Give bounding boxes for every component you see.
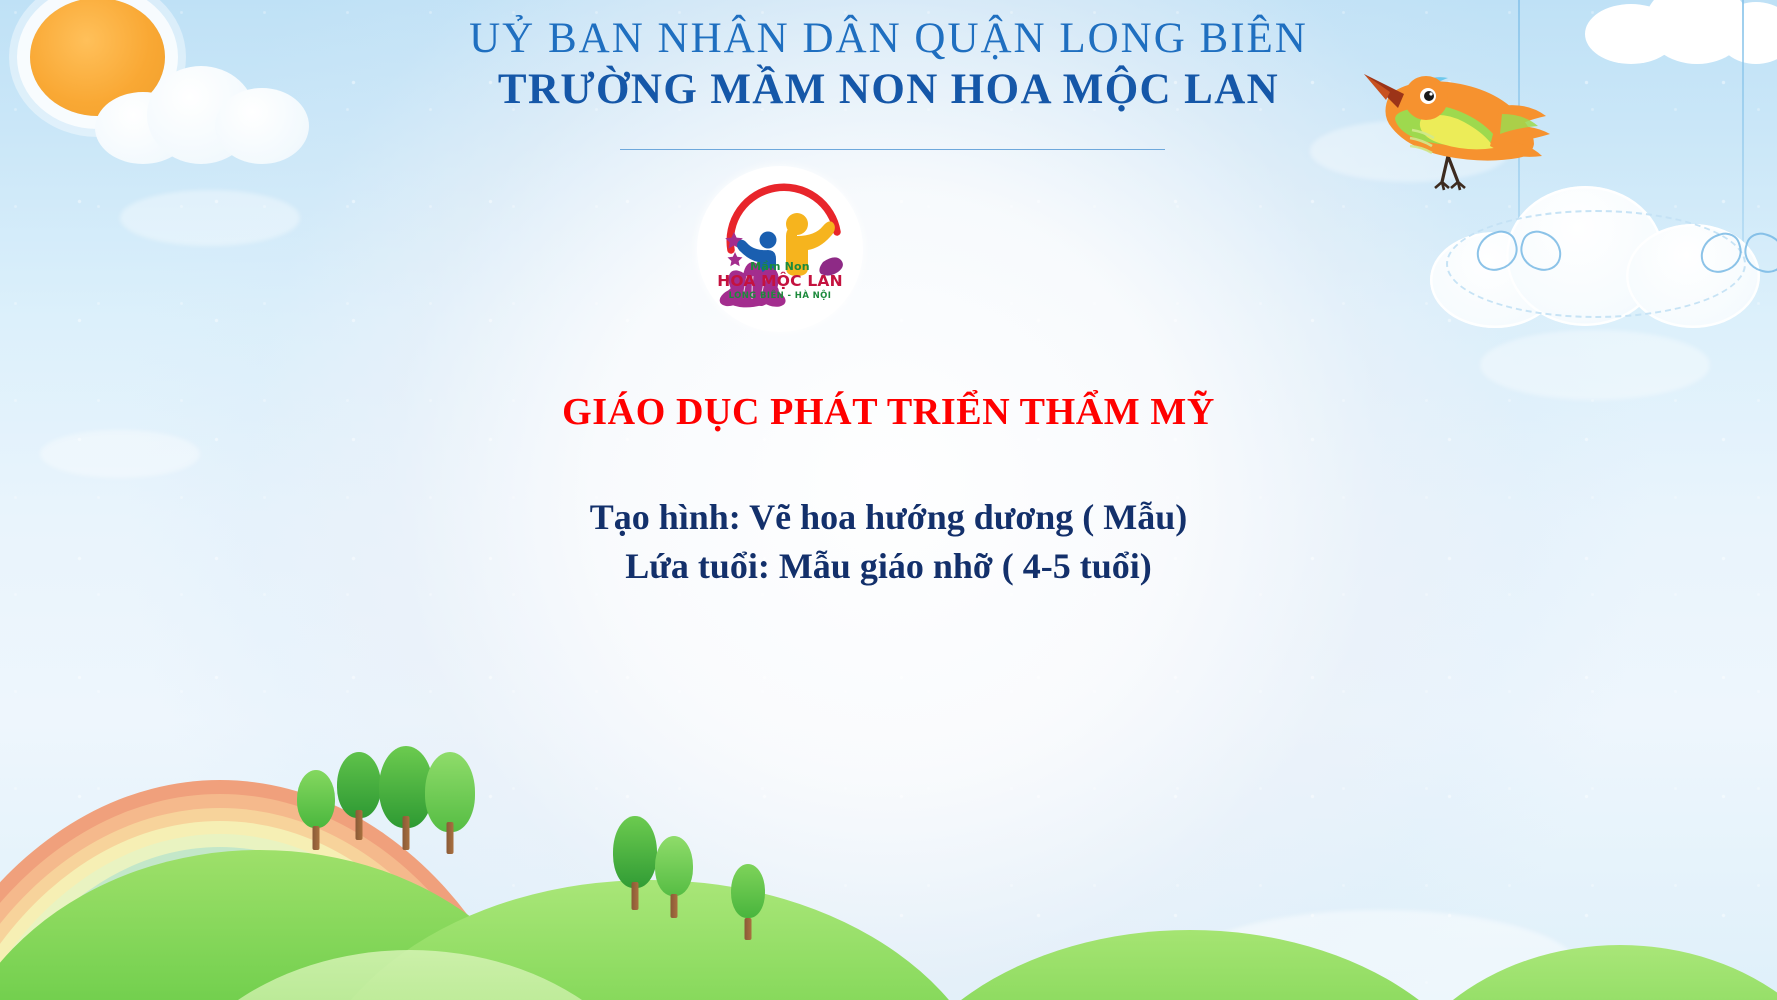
header-line-1: UỶ BAN NHÂN DÂN QUẬN LONG BIÊN	[0, 14, 1777, 64]
header-divider	[620, 149, 1165, 150]
logo-text-bottom: LONG BIÊN - HÀ NỘI	[697, 291, 863, 301]
ribbon-bow-icon	[1476, 230, 1562, 270]
lesson-line-2: Lứa tuổi: Mẫu giáo nhỡ ( 4-5 tuổi)	[0, 542, 1777, 591]
subject-title: GIÁO DỤC PHÁT TRIỂN THẨM MỸ	[0, 388, 1777, 437]
tree-icon	[730, 870, 766, 940]
tree-icon	[336, 754, 382, 840]
school-logo: Mầm Non HOA MỘC LAN LONG BIÊN - HÀ NỘI	[697, 166, 863, 332]
tree-icon	[296, 774, 336, 850]
lesson-line-1: Tạo hình: Vẽ hoa hướng dương ( Mẫu)	[0, 493, 1777, 542]
ghost-cloud	[120, 190, 300, 246]
tree-icon	[654, 840, 694, 918]
logo-text-main: HOA MỘC LAN	[697, 272, 863, 290]
tree-icon	[424, 754, 476, 854]
slide-body: GIÁO DỤC PHÁT TRIỂN THẨM MỸ Tạo hình: Vẽ…	[0, 388, 1777, 591]
header-line-2: TRƯỜNG MẦM NON HOA MỘC LAN	[0, 64, 1777, 116]
logo-graphic	[697, 166, 863, 332]
ribbon-bow-icon	[1700, 232, 1777, 272]
slide-header: UỶ BAN NHÂN DÂN QUẬN LONG BIÊN TRƯỜNG MẦ…	[0, 14, 1777, 115]
lesson-info: Tạo hình: Vẽ hoa hướng dương ( Mẫu) Lứa …	[0, 493, 1777, 591]
tree-icon	[612, 818, 658, 910]
slide-canvas: UỶ BAN NHÂN DÂN QUẬN LONG BIÊN TRƯỜNG MẦ…	[0, 0, 1777, 1000]
